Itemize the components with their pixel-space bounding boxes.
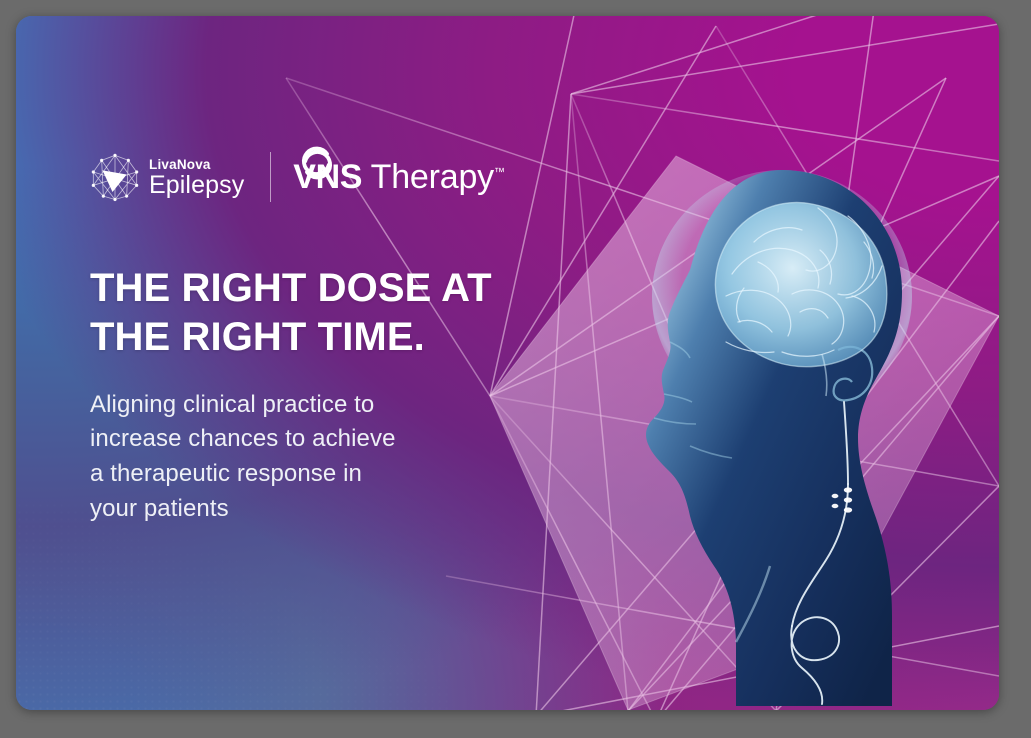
- livanova-name: LivaNova: [149, 158, 244, 172]
- livanova-product: Epilepsy: [149, 173, 244, 198]
- headline-line-1: THE RIGHT DOSE AT: [90, 264, 510, 313]
- headline: THE RIGHT DOSE AT THE RIGHT TIME.: [90, 264, 510, 362]
- vns-therapy-logo: VNS Therapy™: [293, 160, 505, 194]
- livanova-wordmark: LivaNova Epilepsy: [149, 156, 244, 198]
- content-column: LivaNova Epilepsy VNS Therapy™ THE RIGHT: [90, 146, 510, 527]
- vns-name: VNS: [293, 158, 362, 196]
- hero-illustration: [586, 146, 986, 706]
- brand-logo-row: LivaNova Epilepsy VNS Therapy™: [90, 146, 510, 208]
- subheading-line-2: increase chances to achieve: [90, 422, 510, 457]
- subheading: Aligning clinical practice to increase c…: [90, 388, 510, 527]
- subheading-line-1: Aligning clinical practice to: [90, 388, 510, 423]
- logo-divider: [270, 152, 271, 202]
- subheading-line-4: your patients: [90, 492, 510, 527]
- livanova-polygon-icon: [90, 152, 140, 202]
- vns-therapy-word: Therapy: [362, 158, 494, 196]
- livanova-logo: LivaNova Epilepsy: [90, 152, 244, 202]
- trademark-symbol: ™: [494, 167, 505, 179]
- subheading-line-3: a therapeutic response in: [90, 457, 510, 492]
- vns-wordmark: VNS Therapy™: [293, 160, 505, 194]
- headline-line-2: THE RIGHT TIME.: [90, 313, 510, 362]
- slide-card: LivaNova Epilepsy VNS Therapy™ THE RIGHT: [16, 16, 999, 710]
